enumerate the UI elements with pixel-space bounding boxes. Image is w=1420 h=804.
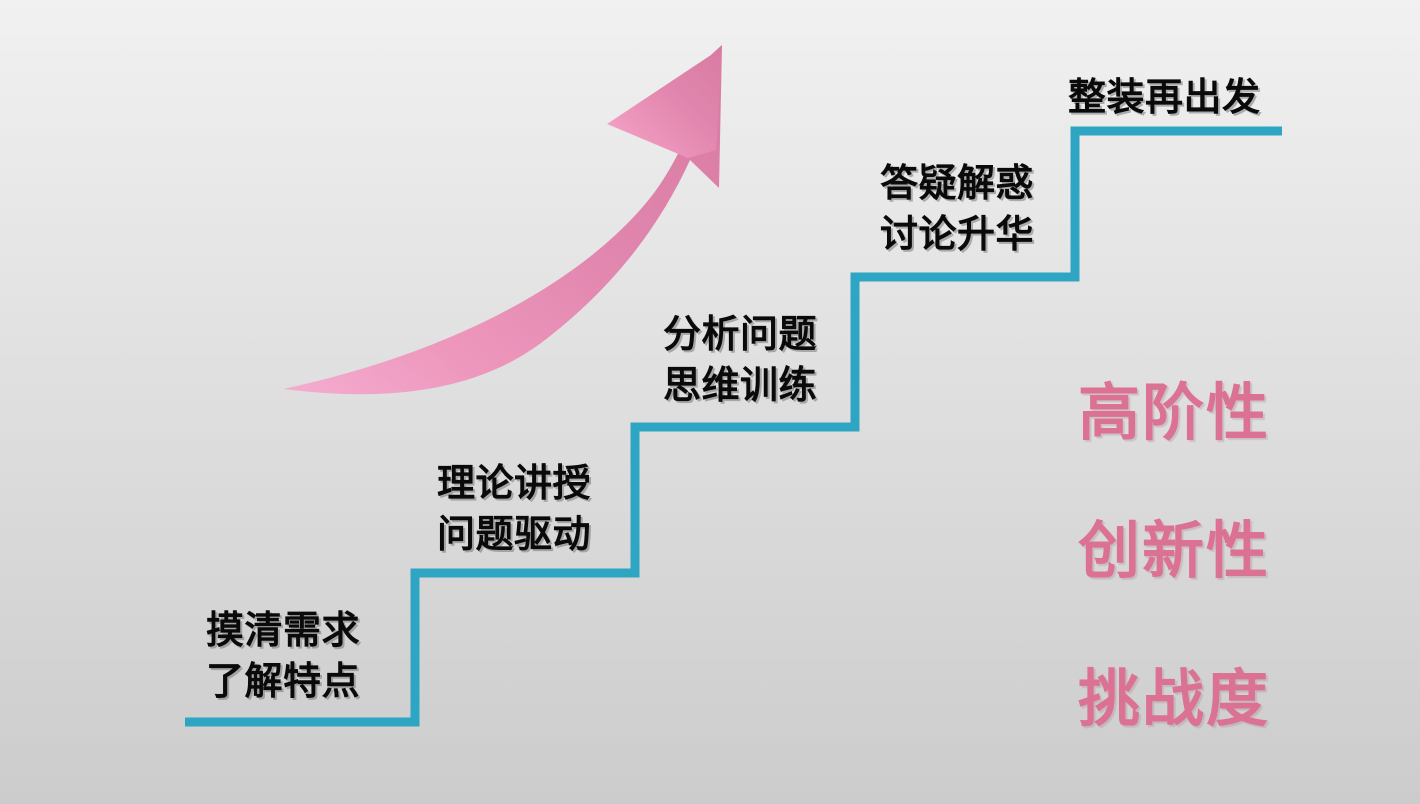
step-label-2-line-1: 理论讲授 xyxy=(437,458,591,509)
attribute-label-innovation: 创新性 xyxy=(1078,520,1270,582)
step-label-3: 分析问题 思维训练 xyxy=(663,309,817,411)
step-label-1: 摸清需求 了解特点 xyxy=(206,605,360,707)
step-label-2-line-2: 问题驱动 xyxy=(437,509,591,560)
step-label-1-line-2: 了解特点 xyxy=(206,656,360,707)
attribute-label-high-order: 高阶性 xyxy=(1078,382,1270,444)
step-label-5: 整装再出发 xyxy=(1068,72,1261,123)
step-label-3-line-1: 分析问题 xyxy=(663,309,817,360)
attribute-label-challenge: 挑战度 xyxy=(1078,668,1270,730)
step-label-3-line-2: 思维训练 xyxy=(663,360,817,411)
step-label-5-line-1: 整装再出发 xyxy=(1068,72,1261,123)
step-label-2: 理论讲授 问题驱动 xyxy=(437,458,591,560)
step-label-4-line-2: 讨论升华 xyxy=(880,209,1034,260)
step-label-4-line-1: 答疑解惑 xyxy=(880,158,1034,209)
text-layer: 摸清需求 了解特点 理论讲授 问题驱动 分析问题 思维训练 答疑解惑 讨论升华 … xyxy=(0,0,1420,804)
slide-canvas: 摸清需求 了解特点 理论讲授 问题驱动 分析问题 思维训练 答疑解惑 讨论升华 … xyxy=(0,0,1420,804)
step-label-1-line-1: 摸清需求 xyxy=(206,605,360,656)
step-label-4: 答疑解惑 讨论升华 xyxy=(880,158,1034,260)
